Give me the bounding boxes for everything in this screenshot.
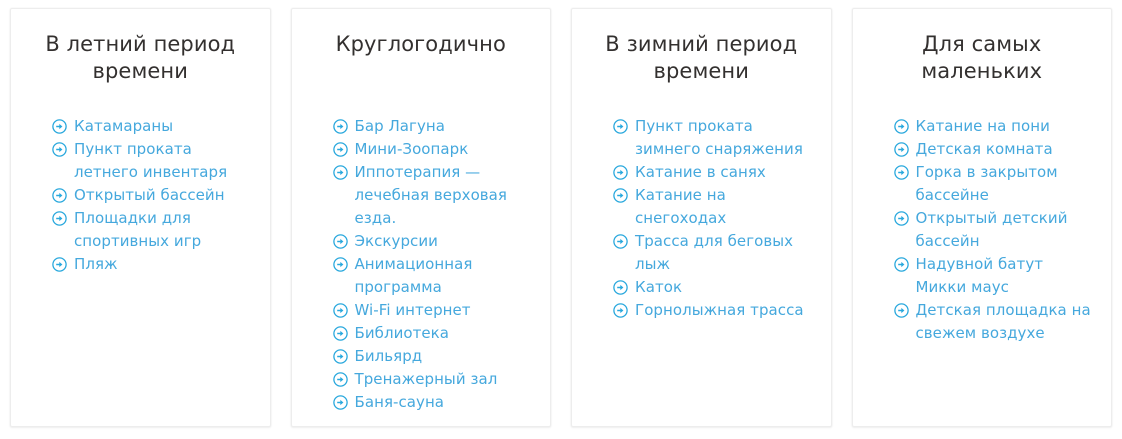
card-title-winter: В зимний период времени [590, 31, 813, 85]
services-card-kids: Для самых маленькихКатание на пониДетска… [852, 8, 1113, 427]
circle-arrow-right-icon [894, 142, 909, 157]
feature-item[interactable]: Библиотека [333, 322, 533, 345]
feature-item-label: Катание на пони [916, 117, 1050, 135]
circle-arrow-right-icon [613, 303, 628, 318]
feature-item-label: Мини-Зоопарк [355, 140, 469, 158]
feature-item-label: Открытый бассейн [74, 186, 225, 204]
feature-item[interactable]: Мини-Зоопарк [333, 138, 533, 161]
circle-arrow-right-icon [333, 142, 348, 157]
feature-item-label: Иппотерапия — лечебная верховая езда. [355, 163, 508, 227]
circle-arrow-right-icon [333, 234, 348, 249]
services-card-year-round: КруглогодичноБар ЛагунаМини-ЗоопаркИппот… [291, 8, 552, 427]
feature-item[interactable]: Каток [613, 276, 813, 299]
feature-item[interactable]: Площадки для спортивных игр [52, 207, 252, 253]
feature-item-label: Бильярд [355, 347, 423, 365]
circle-arrow-right-icon [894, 303, 909, 318]
circle-arrow-right-icon [333, 303, 348, 318]
circle-arrow-right-icon [333, 326, 348, 341]
feature-item[interactable]: Детская площадка на свежем воздухе [894, 299, 1094, 345]
feature-item[interactable]: Катание на пони [894, 115, 1094, 138]
feature-item-label: Детская площадка на свежем воздухе [916, 301, 1091, 342]
feature-item-label: Каток [635, 278, 682, 296]
circle-arrow-right-icon [52, 188, 67, 203]
feature-list-winter: Пункт проката зимнего снаряженияКатание … [590, 115, 813, 322]
card-title-summer: В летний период времени [29, 31, 252, 85]
circle-arrow-right-icon [333, 257, 348, 272]
circle-arrow-right-icon [52, 142, 67, 157]
feature-item[interactable]: Горка в закрытом бассейне [894, 161, 1094, 207]
feature-item[interactable]: Открытый бассейн [52, 184, 252, 207]
feature-item[interactable]: Трасса для беговых лыж [613, 230, 813, 276]
feature-item-label: Катамараны [74, 117, 173, 135]
feature-item[interactable]: Анимационная программа [333, 253, 533, 299]
feature-item-label: Экскурсии [355, 232, 438, 250]
feature-item-label: Трасса для беговых лыж [635, 232, 793, 273]
feature-item-label: Баня-сауна [355, 393, 445, 411]
feature-item-label: Тренажерный зал [355, 370, 498, 388]
feature-item[interactable]: Тренажерный зал [333, 368, 533, 391]
circle-arrow-right-icon [613, 188, 628, 203]
feature-item-label: Катание в санях [635, 163, 766, 181]
circle-arrow-right-icon [52, 257, 67, 272]
feature-item[interactable]: Катание на снегоходах [613, 184, 813, 230]
feature-item-label: Площадки для спортивных игр [74, 209, 201, 250]
circle-arrow-right-icon [894, 257, 909, 272]
feature-item[interactable]: Пункт проката зимнего снаряжения [613, 115, 813, 161]
feature-item-label: Катание на снегоходах [635, 186, 726, 227]
card-title-kids: Для самых маленьких [871, 31, 1094, 85]
feature-item[interactable]: Пункт проката летнего инвентаря [52, 138, 252, 184]
feature-item[interactable]: Экскурсии [333, 230, 533, 253]
circle-arrow-right-icon [333, 395, 348, 410]
feature-item-label: Пляж [74, 255, 118, 273]
circle-arrow-right-icon [333, 349, 348, 364]
feature-item[interactable]: Бильярд [333, 345, 533, 368]
circle-arrow-right-icon [333, 372, 348, 387]
feature-item-label: Горнолыжная трасса [635, 301, 804, 319]
circle-arrow-right-icon [894, 119, 909, 134]
feature-item-label: Анимационная программа [355, 255, 473, 296]
circle-arrow-right-icon [894, 211, 909, 226]
circle-arrow-right-icon [52, 211, 67, 226]
feature-item[interactable]: Катамараны [52, 115, 252, 138]
feature-item-label: Открытый детский бассейн [916, 209, 1068, 250]
feature-item[interactable]: Иппотерапия — лечебная верховая езда. [333, 161, 533, 230]
circle-arrow-right-icon [52, 119, 67, 134]
feature-item-label: Надувной батут Микки маус [916, 255, 1044, 296]
feature-item-label: Детская комната [916, 140, 1053, 158]
feature-list-year-round: Бар ЛагунаМини-ЗоопаркИппотерапия — лече… [310, 115, 533, 414]
circle-arrow-right-icon [613, 119, 628, 134]
feature-item-label: Wi-Fi интернет [355, 301, 471, 319]
services-columns-board: В летний период времениКатамараныПункт п… [0, 0, 1122, 439]
feature-item[interactable]: Бар Лагуна [333, 115, 533, 138]
feature-list-summer: КатамараныПункт проката летнего инвентар… [29, 115, 252, 276]
feature-item[interactable]: Катание в санях [613, 161, 813, 184]
card-title-year-round: Круглогодично [310, 31, 533, 58]
circle-arrow-right-icon [613, 280, 628, 295]
circle-arrow-right-icon [613, 165, 628, 180]
feature-item-label: Бар Лагуна [355, 117, 446, 135]
feature-item-label: Горка в закрытом бассейне [916, 163, 1058, 204]
feature-item[interactable]: Горнолыжная трасса [613, 299, 813, 322]
circle-arrow-right-icon [613, 234, 628, 249]
circle-arrow-right-icon [894, 165, 909, 180]
feature-item-label: Пункт проката летнего инвентаря [74, 140, 227, 181]
feature-item[interactable]: Открытый детский бассейн [894, 207, 1094, 253]
services-card-summer: В летний период времениКатамараныПункт п… [10, 8, 271, 427]
circle-arrow-right-icon [333, 119, 348, 134]
feature-list-kids: Катание на пониДетская комнатаГорка в за… [871, 115, 1094, 345]
feature-item[interactable]: Детская комната [894, 138, 1094, 161]
feature-item[interactable]: Надувной батут Микки маус [894, 253, 1094, 299]
feature-item-label: Пункт проката зимнего снаряжения [635, 117, 803, 158]
circle-arrow-right-icon [333, 165, 348, 180]
feature-item-label: Библиотека [355, 324, 450, 342]
services-card-winter: В зимний период времениПункт проката зим… [571, 8, 832, 427]
feature-item[interactable]: Баня-сауна [333, 391, 533, 414]
feature-item[interactable]: Пляж [52, 253, 252, 276]
feature-item[interactable]: Wi-Fi интернет [333, 299, 533, 322]
